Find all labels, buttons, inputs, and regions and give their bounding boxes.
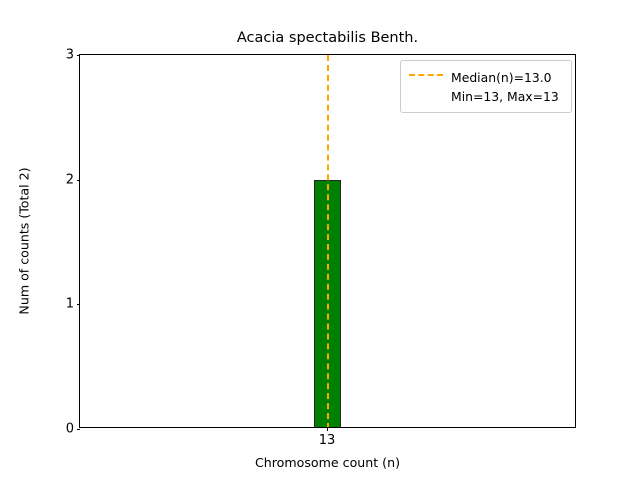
y-axis-label: Num of counts (Total 2) <box>17 167 32 314</box>
x-tick-mark-13 <box>327 427 328 431</box>
legend-label-median: Median(n)=13.0 <box>451 70 552 85</box>
x-axis-label: Chromosome count (n) <box>79 455 576 470</box>
x-tick-label-13: 13 <box>319 434 336 447</box>
median-vline <box>327 55 329 427</box>
y-tick-label-3: 3 <box>66 49 74 62</box>
legend-label-group: Median(n)=13.0 Min=13, Max=13 <box>451 67 559 105</box>
legend-dashed-line-icon <box>409 68 443 83</box>
chart-legend: Median(n)=13.0 Min=13, Max=13 <box>400 60 572 113</box>
y-tick-label-2: 2 <box>66 173 74 186</box>
y-tick-mark-0 <box>77 429 81 430</box>
chart-title: Acacia spectabilis Benth. <box>79 30 576 47</box>
figure-canvas: Acacia spectabilis Benth. Num of counts … <box>0 0 640 480</box>
y-tick-label-1: 1 <box>66 298 74 311</box>
y-tick-label-0: 0 <box>66 423 74 436</box>
legend-label-minmax: Min=13, Max=13 <box>451 89 559 104</box>
legend-entry-median: Median(n)=13.0 Min=13, Max=13 <box>409 67 563 105</box>
